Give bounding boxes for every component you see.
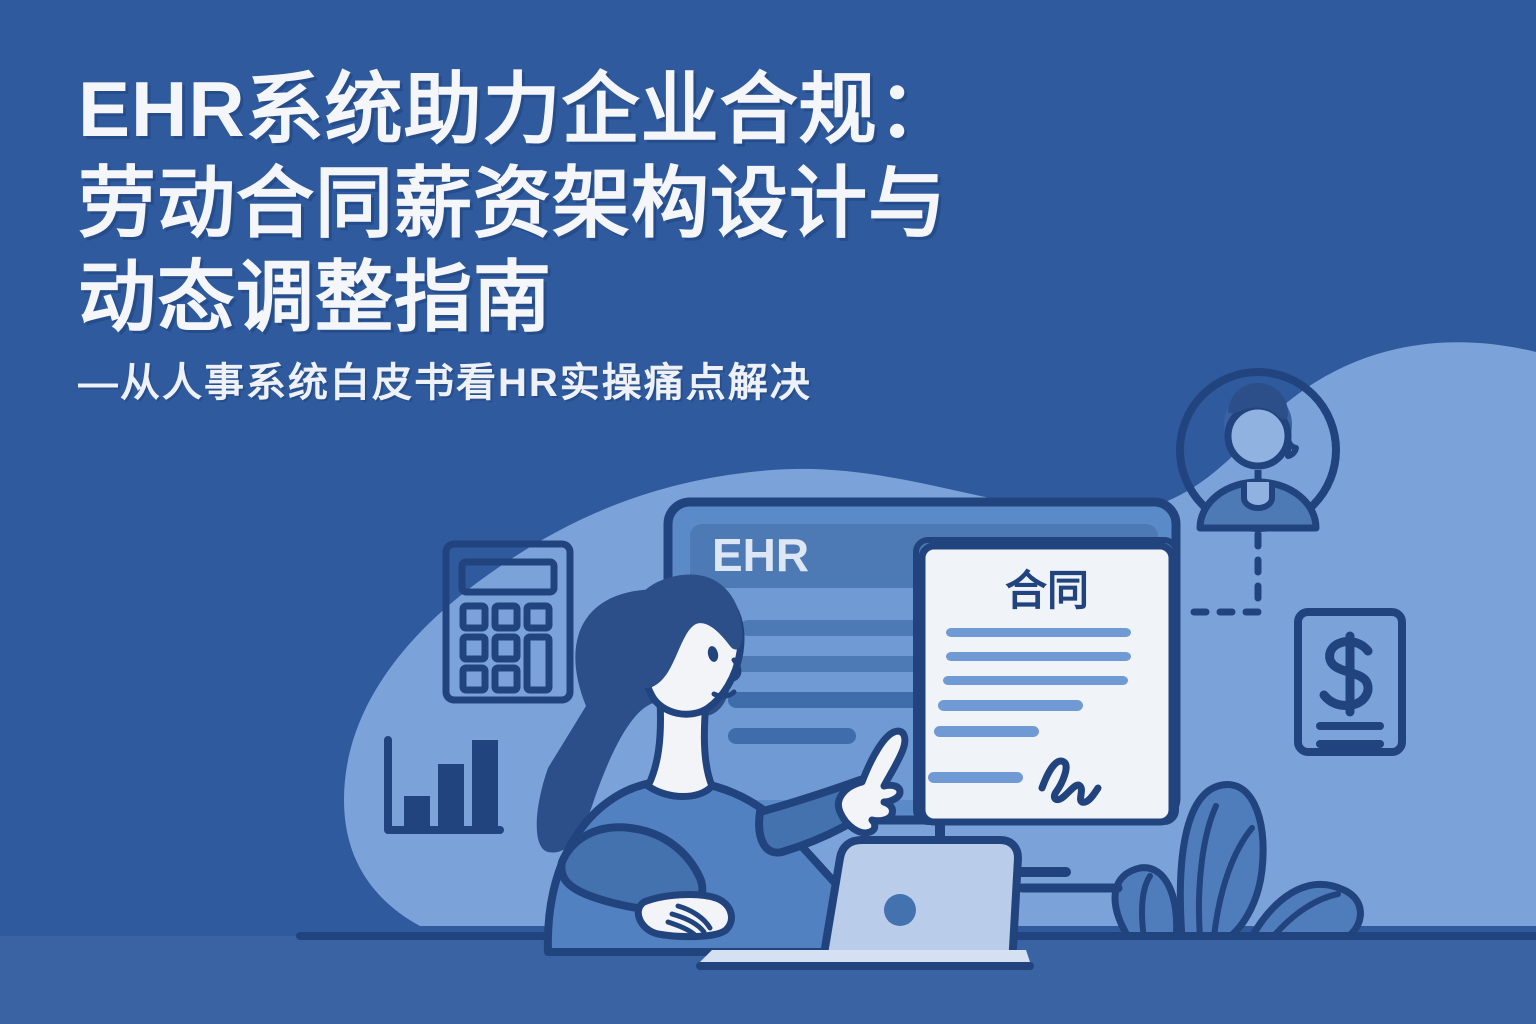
contract-title: 合同 <box>1005 567 1089 614</box>
screen-text-bar-3 <box>728 692 928 708</box>
contract-line-5 <box>934 726 1039 737</box>
headline-line-2: 劳动合同薪资架构设计与 <box>78 156 1258 250</box>
headline-line-1: EHR系统助力企业合规： <box>78 62 1258 156</box>
contract-line-1 <box>946 628 1131 637</box>
headline-line-3: 动态调整指南 <box>78 250 1258 344</box>
poster-canvas: EHR 合同 <box>0 0 1536 1024</box>
contract-document: 合同 <box>916 540 1176 822</box>
monitor-app-label: EHR <box>712 529 809 581</box>
contract-line-2 <box>946 652 1131 661</box>
contract-line-4 <box>938 700 1083 711</box>
screen-text-bar-4 <box>728 728 856 744</box>
contract-line-6 <box>928 772 1023 783</box>
subtitle-line: —从人事系统白皮书看HR实操痛点解决 <box>78 358 1258 408</box>
contract-line-3 <box>943 676 1128 685</box>
screen-text-bar-2 <box>728 656 933 672</box>
title-block: EHR系统助力企业合规： 劳动合同薪资架构设计与 动态调整指南 —从人事系统白皮… <box>78 62 1258 408</box>
laptop-logo <box>884 894 916 926</box>
screen-text-bar-1 <box>740 620 930 636</box>
